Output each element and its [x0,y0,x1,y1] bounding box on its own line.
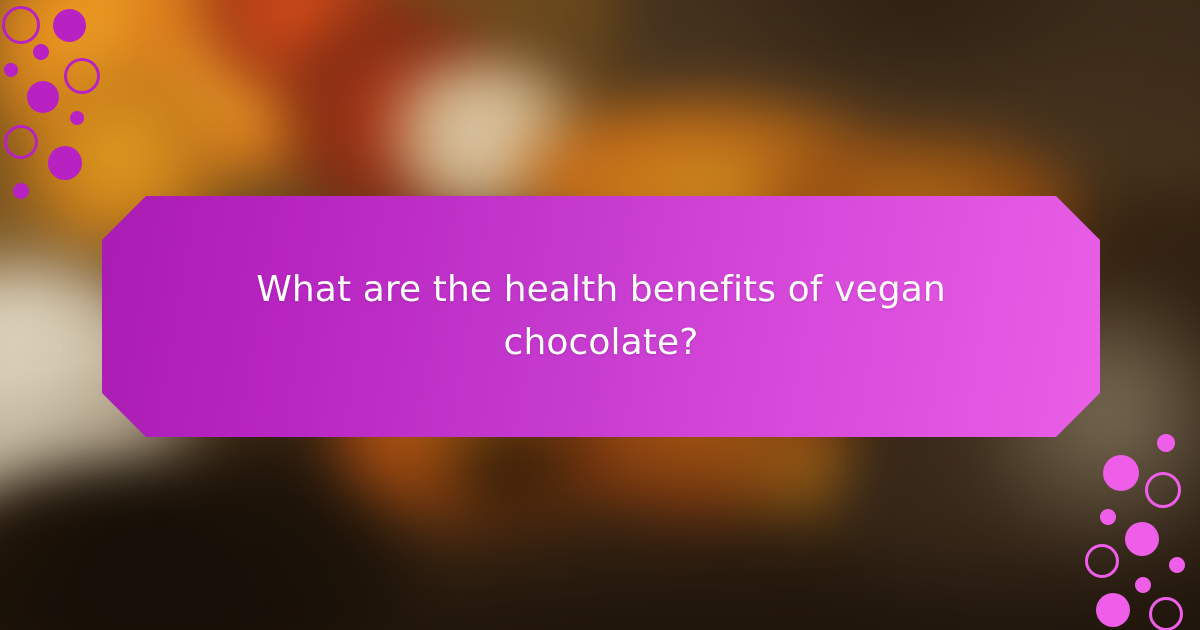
decorative-circle [4,125,38,159]
decorative-circle [1100,509,1116,525]
decorative-circle [1103,455,1139,491]
page-title: What are the health benefits of vegan ch… [251,264,951,368]
decorative-circle [27,81,59,113]
decorative-circle [1157,434,1175,452]
decorative-circle [1085,544,1119,578]
decorative-circle [70,111,84,125]
decorative-circle [4,63,18,77]
social-card: What are the health benefits of vegan ch… [0,0,1200,630]
decorative-circles-top-left [0,0,220,220]
decorative-circle [53,9,86,42]
decorative-circle [1096,593,1130,627]
decorative-circle [1125,522,1159,556]
decorative-circles-bottom-right [1065,425,1200,630]
decorative-circle [1169,557,1185,573]
decorative-circle [33,44,49,60]
decorative-circle [1149,597,1183,630]
decorative-circle [13,183,29,199]
decorative-circle [2,6,40,44]
title-banner: What are the health benefits of vegan ch… [102,196,1100,437]
decorative-circle [1135,577,1151,593]
decorative-circle [48,146,82,180]
decorative-circle [1145,472,1181,508]
decorative-circle [64,58,100,94]
